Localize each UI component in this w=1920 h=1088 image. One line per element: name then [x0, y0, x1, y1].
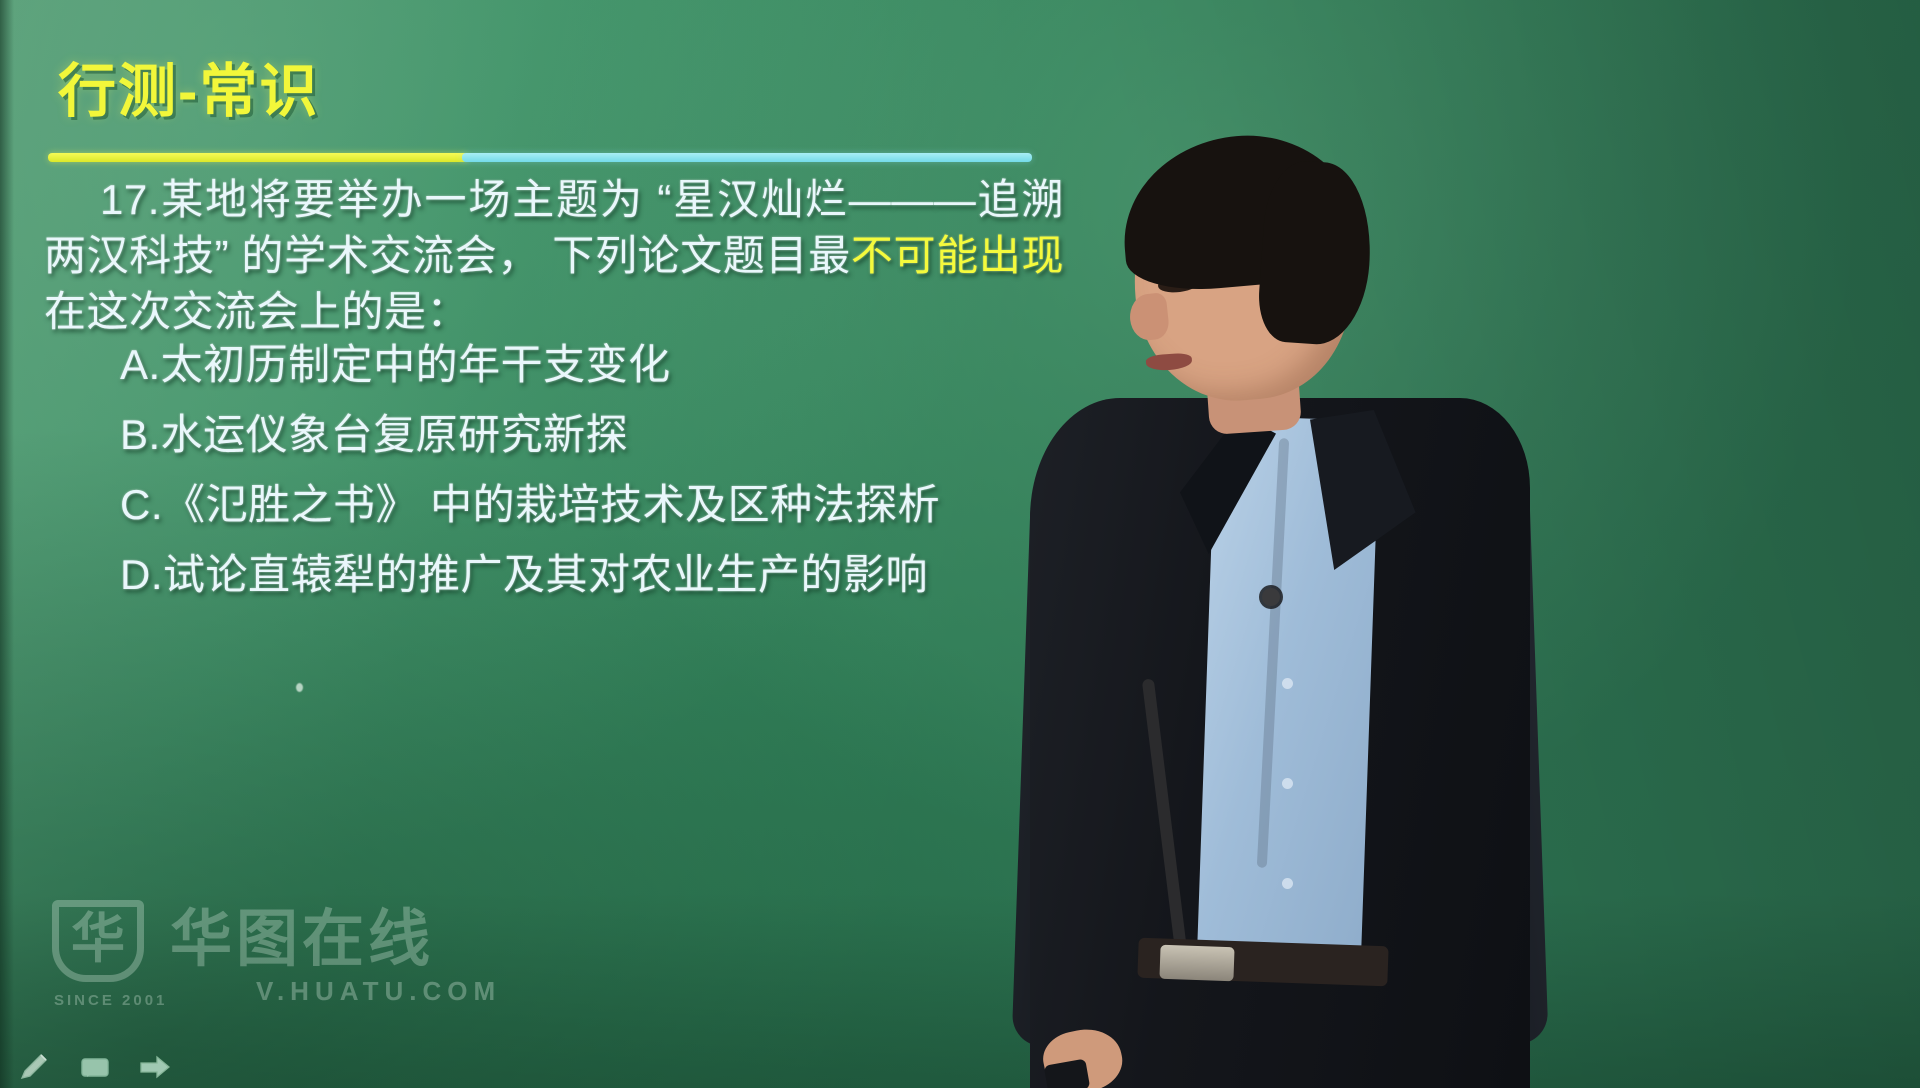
presenter — [1010, 118, 1550, 1088]
presenter-shirt-button — [1282, 778, 1293, 789]
divider-yellow — [48, 153, 468, 162]
pen-icon[interactable] — [18, 1052, 52, 1082]
option-c[interactable]: C.《氾胜之书》 中的栽培技术及区种法探析 — [120, 470, 1060, 540]
microphone-icon — [1262, 588, 1280, 606]
question-line-2a: 汉科技” 的学术交流会， 下列论文题目最 — [87, 232, 851, 279]
share-icon[interactable] — [138, 1052, 172, 1082]
presenter-nose — [1128, 292, 1171, 342]
video-frame: 行测-常识 17.某地将要举办一场主题为 “星汉灿烂———追溯两汉科技” 的学术… — [0, 0, 1920, 1088]
presenter-hair-back — [1256, 158, 1376, 347]
question-line-2b: 在这次 — [44, 288, 172, 335]
question-line-3: 交流会上的是： — [172, 288, 470, 335]
option-b[interactable]: B.水运仪象台复原研究新探 — [120, 400, 1060, 470]
divider-cyan — [462, 153, 1032, 162]
option-d[interactable]: D.试论直辕犁的推广及其对农业生产的影响 — [120, 540, 1060, 610]
option-list: A.太初历制定中的年干支变化 B.水运仪象台复原研究新探 C.《氾胜之书》 中的… — [120, 330, 1060, 610]
player-toolbar[interactable] — [18, 1052, 172, 1082]
left-edge-shadow — [0, 0, 14, 1088]
question-text: 17.某地将要举办一场主题为 “星汉灿烂———追溯两汉科技” 的学术交流会， 下… — [44, 172, 1064, 340]
slide-title: 行测-常识 — [58, 44, 319, 128]
pointer-dot — [296, 683, 303, 692]
presenter-belt-buckle — [1159, 945, 1234, 982]
note-icon[interactable] — [78, 1052, 112, 1082]
presentation-slide: 行测-常识 17.某地将要举办一场主题为 “星汉灿烂———追溯两汉科技” 的学术… — [0, 0, 1920, 1088]
presenter-shirt-button — [1282, 878, 1293, 889]
option-a[interactable]: A.太初历制定中的年干支变化 — [120, 330, 1060, 400]
presenter-shirt-button — [1282, 678, 1293, 689]
